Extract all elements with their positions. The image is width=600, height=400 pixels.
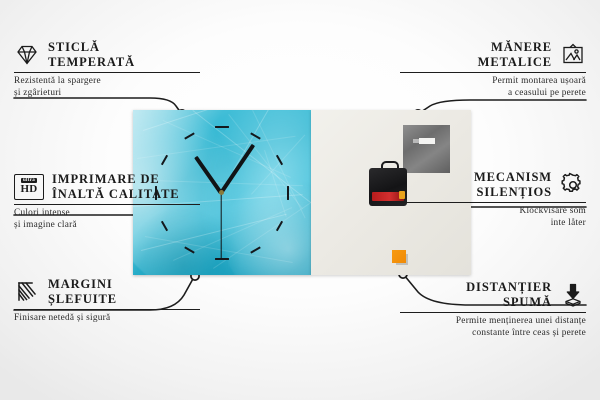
feature-title-line2: ÎNALTĂ CALITATE [52,187,180,202]
feature-title-line1: MARGINI [48,277,117,292]
feature-foam-spacer: DISTANȚIER SPUMĂ Permite menținerea unei… [400,280,586,339]
feature-title-line1: STICLĂ [48,40,135,55]
feature-subtitle-line2: și imagine clară [14,220,200,232]
feature-hd-print: ultra HD IMPRIMARE DE ÎNALTĂ CALITATE Cu… [14,172,200,231]
feature-title-line2: SILENȚIOS [474,185,552,200]
feature-divider [400,312,586,313]
clock-tick [215,258,229,260]
beveled-edge-icon [14,279,40,305]
second-hand [220,193,221,259]
feature-divider [400,72,586,73]
feature-title-line1: MĂNERE [478,40,552,55]
feature-title-line1: IMPRIMARE DE [52,172,180,187]
clock-center-hub [219,190,224,195]
feature-divider [400,202,586,203]
feature-polished-edges: MARGINI ȘLEFUITE Finisare netedă și sigu… [14,277,200,325]
hanger-slot [419,138,435,144]
foam-spacer-pad [392,250,406,263]
diamond-icon [14,42,40,68]
feature-title-line1: MECANISM [474,170,552,185]
clock-tick [287,186,289,200]
feature-subtitle-line2: a ceasului pe perete [400,88,586,100]
feature-subtitle-line1: Permit montarea ușoară [400,76,586,88]
infographic-canvas: STICLĂ TEMPERATĂ Rezistentă la spargere … [0,0,600,400]
ultra-hd-icon: ultra HD [14,174,44,200]
feature-title-line2: METALICE [478,55,552,70]
feature-title-line2: TEMPERATĂ [48,55,135,70]
feature-subtitle-line1: Permite menținerea unei distanțe [400,316,586,328]
feature-tempered-glass: STICLĂ TEMPERATĂ Rezistentă la spargere … [14,40,200,99]
feature-subtitle-line2: constante între ceas și perete [400,328,586,340]
feature-title-line2: ȘLEFUITE [48,292,117,307]
feature-subtitle-line2: inte låter [400,218,586,230]
feature-subtitle-line1: Rezistentă la spargere [14,76,200,88]
feature-divider [14,309,200,310]
feature-subtitle-line1: Culori intense [14,208,200,220]
picture-hanger-icon [560,42,586,68]
feature-title-line2: SPUMĂ [466,295,552,310]
metal-hanger-plate [403,125,450,173]
feature-subtitle-line2: și zgârieturi [14,88,200,100]
gear-icon [560,172,586,198]
feature-subtitle-line1: Klockvisare som [400,206,586,218]
down-arrow-pad-icon [560,282,586,308]
clock-tick [215,126,229,128]
feature-divider [14,72,200,73]
feature-divider [14,204,200,205]
ultra-hd-icon-large-text: HD [21,184,38,195]
feature-subtitle-line1: Finisare netedă și sigură [14,313,200,325]
feature-metal-hangers: MĂNERE METALICE Permit montarea ușoară a… [400,40,586,99]
feature-silent-mechanism: MECANISM SILENȚIOS Klockvisare som inte … [400,170,586,229]
feature-title-line1: DISTANȚIER [466,280,552,295]
